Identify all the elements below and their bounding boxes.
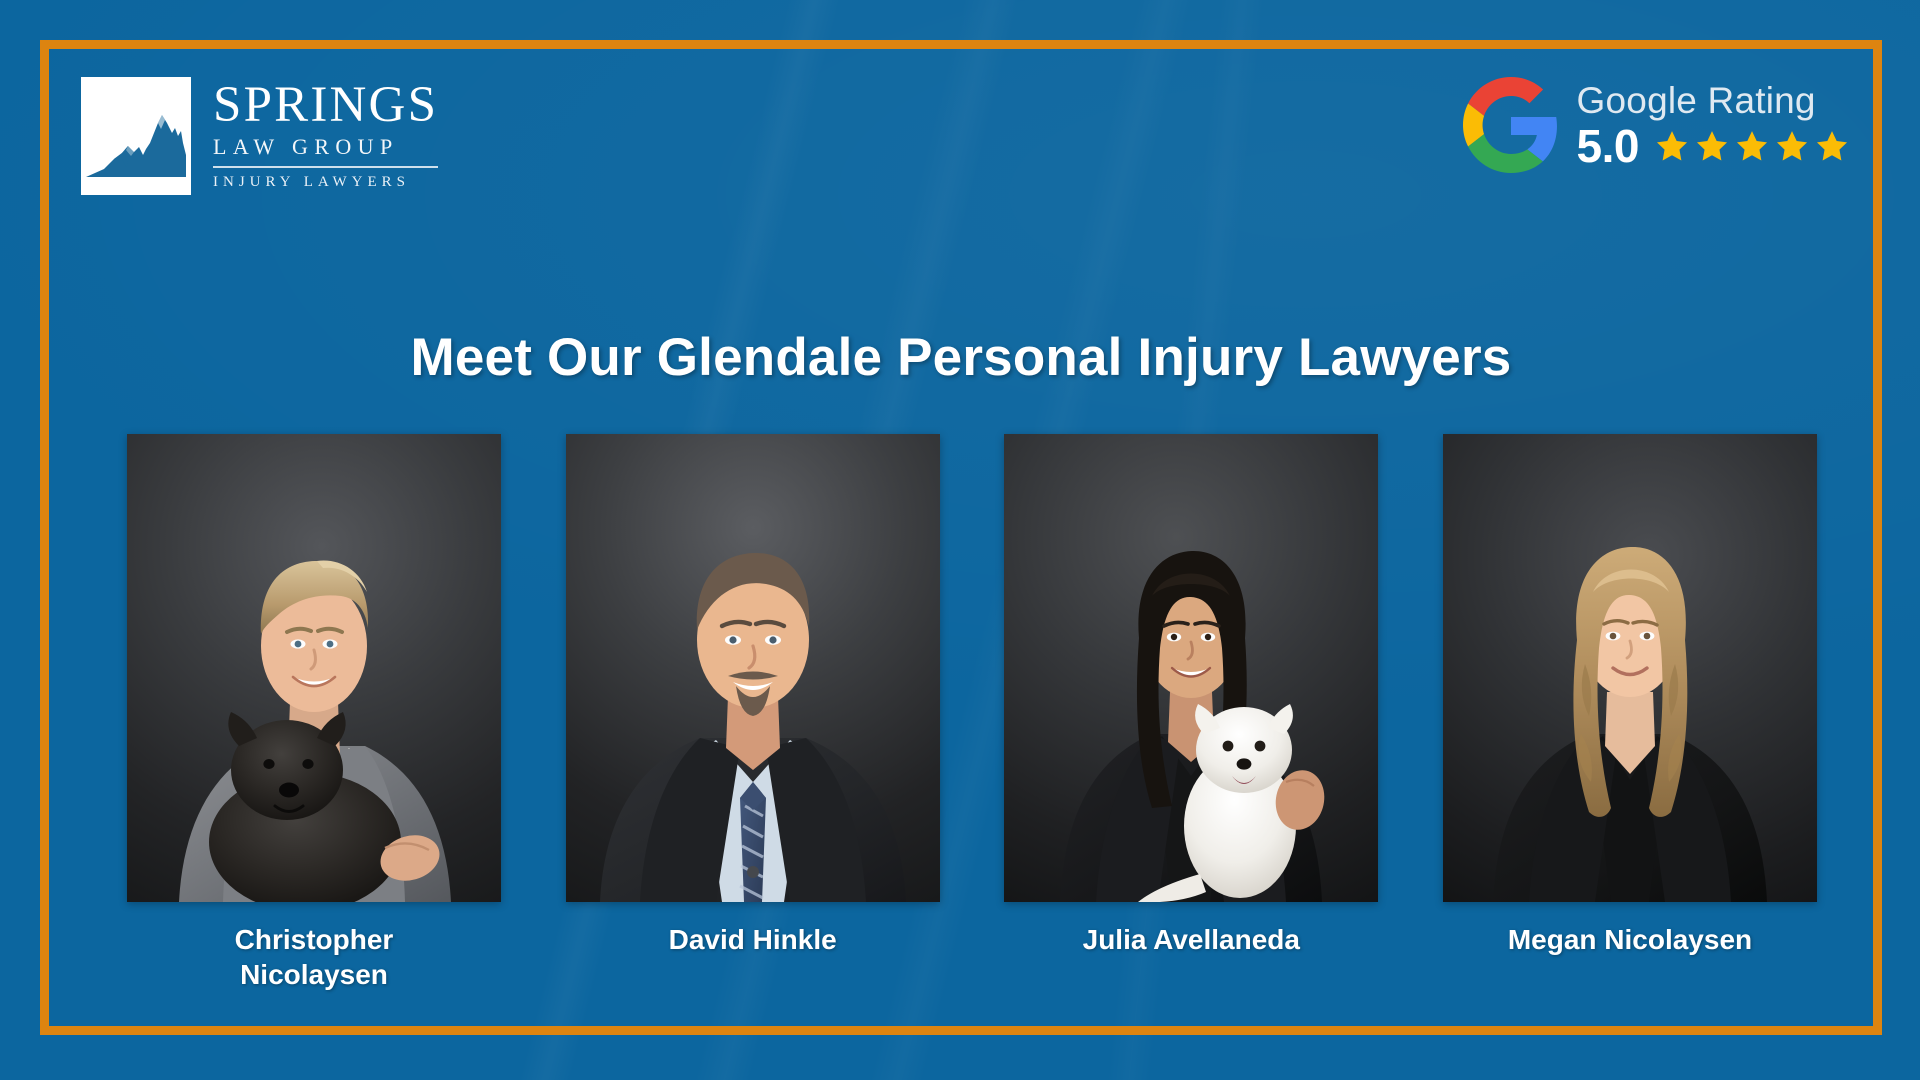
portrait-david-hinkle[interactable]: [566, 434, 940, 902]
star-icon: [1773, 128, 1811, 166]
team-member-name-line: Julia Avellaneda: [1004, 922, 1378, 957]
team-member-name-line: Nicolaysen: [127, 957, 501, 992]
team-grid: Christopher Nicolaysen: [127, 434, 1817, 993]
banner-header: SPRINGS LAW GROUP INJURY LAWYERS: [49, 49, 1891, 239]
star-icon: [1813, 128, 1851, 166]
google-rating-stars: [1653, 128, 1851, 166]
star-icon: [1733, 128, 1771, 166]
star-icon: [1653, 128, 1691, 166]
google-rating-score: 5.0: [1577, 123, 1639, 169]
team-member-name-line: David Hinkle: [566, 922, 940, 957]
google-rating-label: Google Rating: [1577, 81, 1851, 122]
brand-wordmark: SPRINGS LAW GROUP INJURY LAWYERS: [213, 77, 438, 195]
team-member-name: David Hinkle: [566, 922, 940, 957]
team-member-name-line: Megan Nicolaysen: [1443, 922, 1817, 957]
page-title: Meet Our Glendale Personal Injury Lawyer…: [49, 327, 1873, 388]
google-rating-score-row: 5.0: [1577, 123, 1851, 169]
google-rating-badge[interactable]: Google Rating 5.0: [1463, 77, 1851, 173]
brand-logo[interactable]: SPRINGS LAW GROUP INJURY LAWYERS: [81, 77, 438, 195]
portrait-megan-nicolaysen[interactable]: [1443, 434, 1817, 902]
google-rating-text: Google Rating 5.0: [1577, 81, 1851, 170]
brand-name-injury-lawyers: INJURY LAWYERS: [213, 173, 438, 191]
portrait-julia-avellaneda[interactable]: [1004, 434, 1378, 902]
team-member[interactable]: Megan Nicolaysen: [1443, 434, 1817, 993]
brand-name-springs: SPRINGS: [213, 81, 438, 131]
brand-divider: [213, 166, 438, 168]
team-member[interactable]: David Hinkle: [566, 434, 940, 993]
team-member[interactable]: Julia Avellaneda: [1004, 434, 1378, 993]
portrait-christopher-nicolaysen[interactable]: [127, 434, 501, 902]
orange-frame-border: SPRINGS LAW GROUP INJURY LAWYERS: [40, 40, 1882, 1035]
star-icon: [1693, 128, 1731, 166]
mountain-peaks-icon: [81, 77, 191, 195]
team-member-name: Julia Avellaneda: [1004, 922, 1378, 957]
team-member[interactable]: Christopher Nicolaysen: [127, 434, 501, 993]
marketing-banner: SPRINGS LAW GROUP INJURY LAWYERS: [0, 0, 1920, 1080]
team-member-name: Christopher Nicolaysen: [127, 922, 501, 993]
google-g-icon: [1463, 77, 1559, 173]
brand-name-law-group: LAW GROUP: [213, 132, 438, 162]
team-member-name-line: Christopher: [127, 922, 501, 957]
team-member-name: Megan Nicolaysen: [1443, 922, 1817, 957]
